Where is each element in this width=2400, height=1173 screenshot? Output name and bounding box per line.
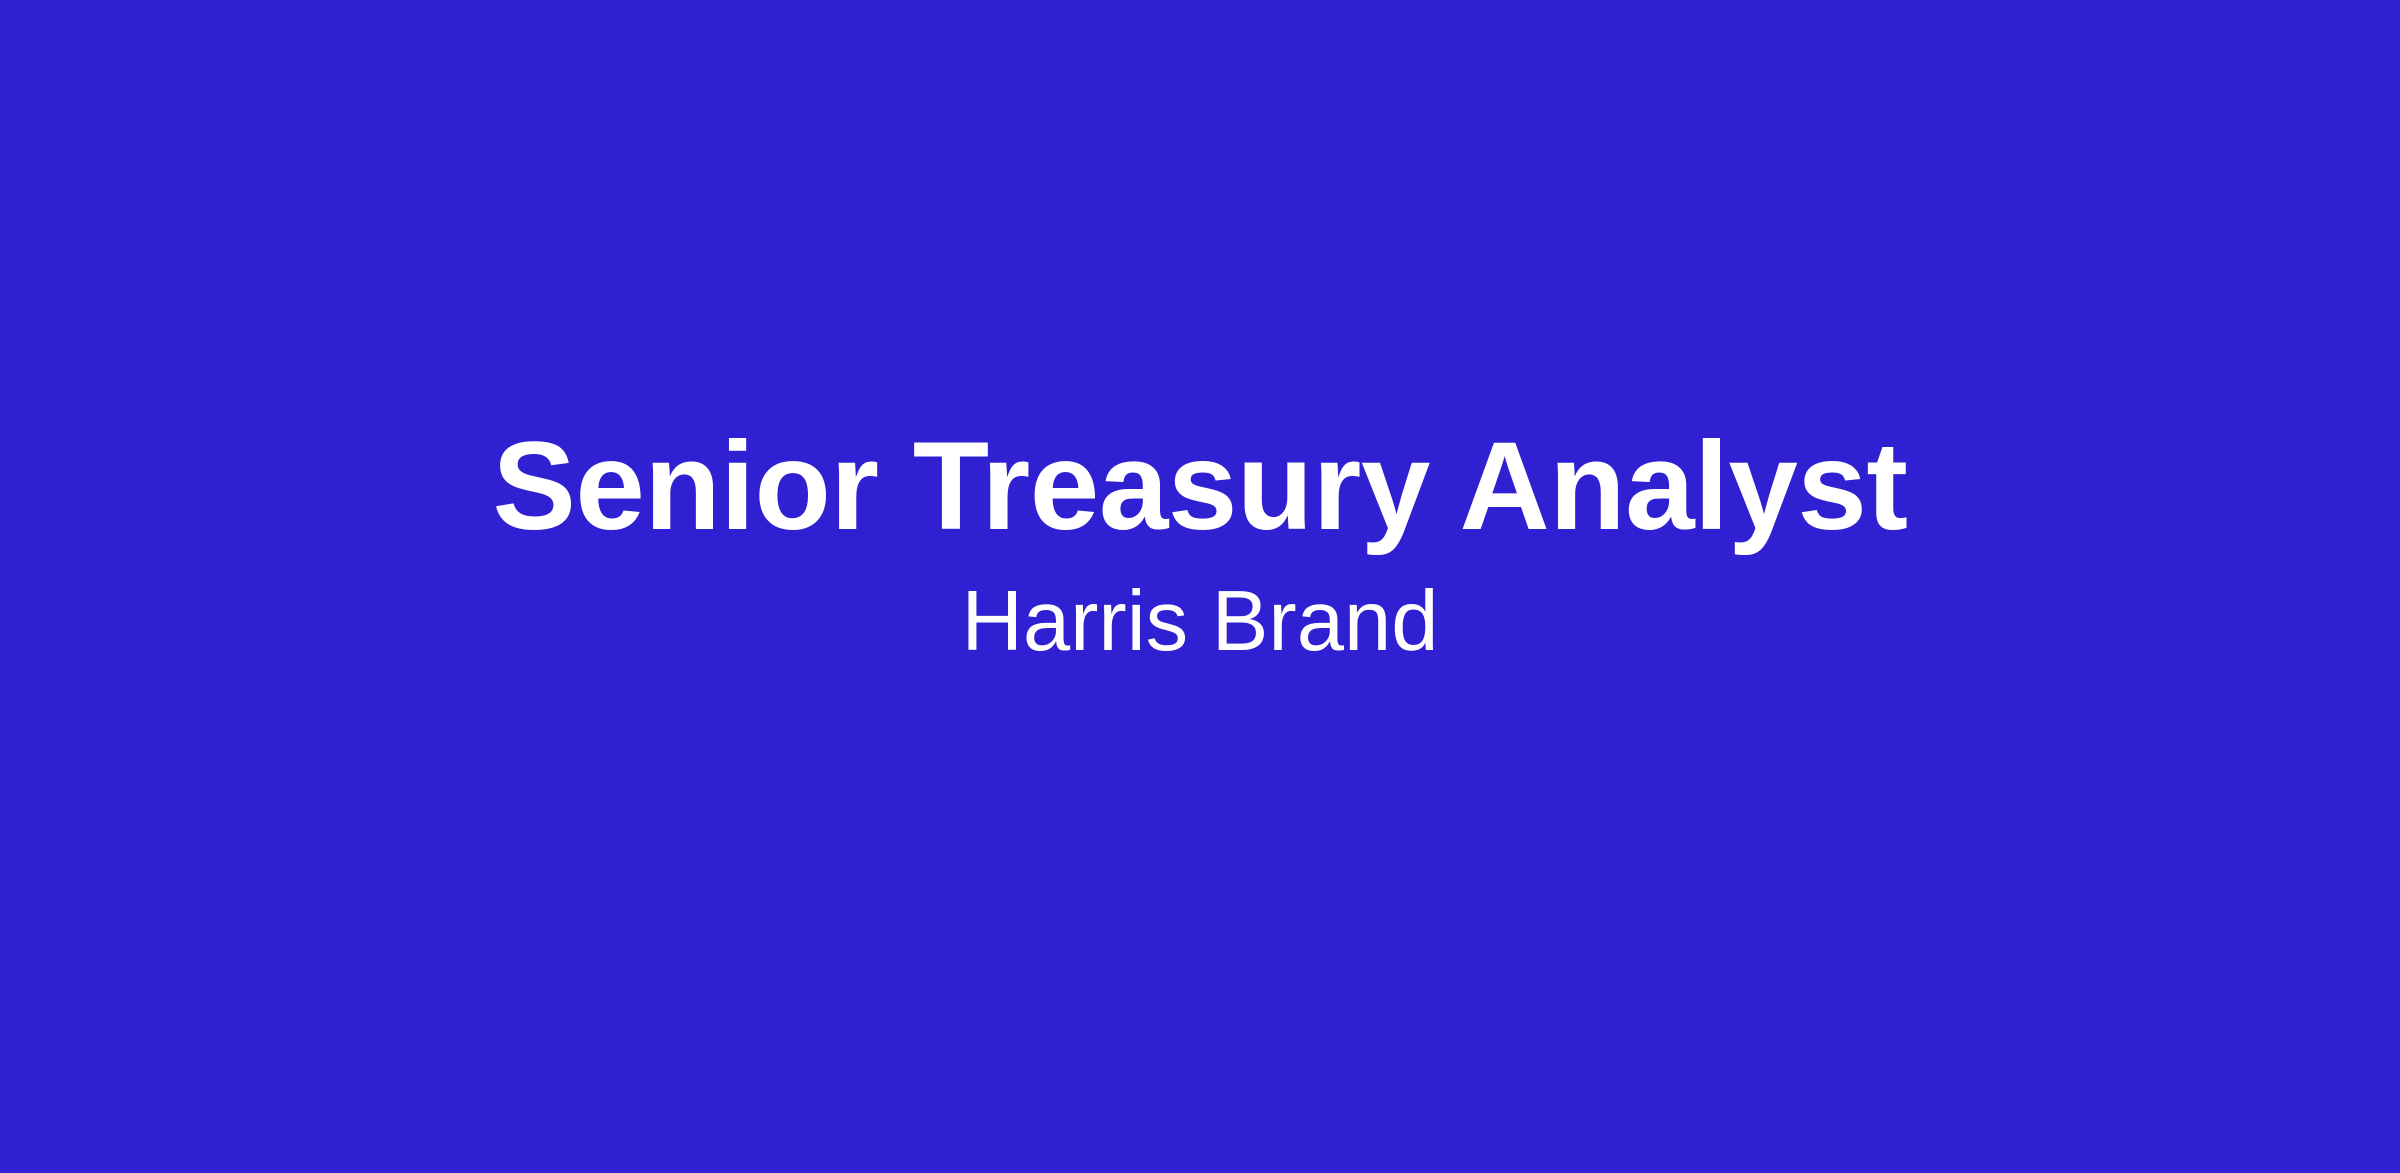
page-title: Senior Treasury Analyst xyxy=(492,424,1907,549)
hero-text-block: Senior Treasury Analyst Harris Brand xyxy=(0,424,2400,664)
job-title-hero-card: Senior Treasury Analyst Harris Brand xyxy=(0,0,2400,1173)
page-subtitle-company: Harris Brand xyxy=(961,579,1438,664)
